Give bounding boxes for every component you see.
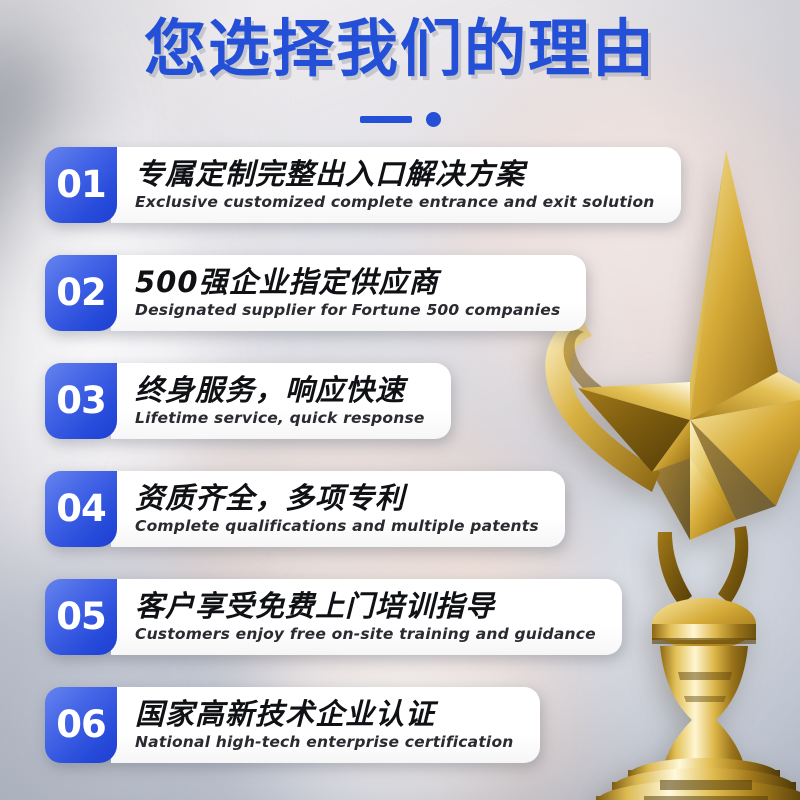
feature-text-en: Designated supplier for Fortune 500 comp… bbox=[135, 301, 560, 320]
feature-number: 05 bbox=[56, 598, 106, 635]
feature-text-en: Lifetime service, quick response bbox=[135, 409, 425, 428]
feature-number-badge: 02 bbox=[45, 255, 117, 331]
feature-row: 05客户享受免费上门培训指导Customers enjoy free on-si… bbox=[45, 579, 622, 655]
feature-number: 01 bbox=[56, 166, 106, 203]
feature-number: 02 bbox=[56, 274, 106, 311]
feature-text-cn: 国家高新技术企业认证 bbox=[135, 698, 514, 730]
feature-card: 国家高新技术企业认证National high-tech enterprise … bbox=[111, 687, 540, 763]
feature-number-badge: 04 bbox=[45, 471, 117, 547]
promotional-poster: 您选择我们的理由 01专属定制完整出入口解决方案Exclusive custom… bbox=[0, 0, 800, 800]
feature-number-badge: 05 bbox=[45, 579, 117, 655]
feature-number-badge: 03 bbox=[45, 363, 117, 439]
feature-text-en: National high-tech enterprise certificat… bbox=[135, 733, 514, 752]
feature-card: 500强企业指定供应商Designated supplier for Fortu… bbox=[111, 255, 586, 331]
feature-text-cn: 资质齐全，多项专利 bbox=[135, 482, 539, 514]
feature-text-cn: 终身服务，响应快速 bbox=[135, 374, 425, 406]
feature-row: 03终身服务，响应快速Lifetime service, quick respo… bbox=[45, 363, 451, 439]
feature-card: 专属定制完整出入口解决方案Exclusive customized comple… bbox=[111, 147, 681, 223]
feature-text-cn: 客户享受免费上门培训指导 bbox=[135, 590, 596, 622]
feature-list: 01专属定制完整出入口解决方案Exclusive customized comp… bbox=[0, 0, 800, 800]
feature-row: 06国家高新技术企业认证National high-tech enterpris… bbox=[45, 687, 540, 763]
feature-text-en: Exclusive customized complete entrance a… bbox=[135, 193, 655, 212]
feature-number-badge: 01 bbox=[45, 147, 117, 223]
feature-text-en: Customers enjoy free on-site training an… bbox=[135, 625, 596, 644]
feature-card: 终身服务，响应快速Lifetime service, quick respons… bbox=[111, 363, 451, 439]
feature-number: 06 bbox=[56, 706, 106, 743]
feature-text-cn: 专属定制完整出入口解决方案 bbox=[135, 158, 655, 190]
feature-number: 04 bbox=[56, 490, 106, 527]
feature-text-cn: 500强企业指定供应商 bbox=[135, 266, 560, 298]
feature-text-en: Complete qualifications and multiple pat… bbox=[135, 517, 539, 536]
feature-row: 01专属定制完整出入口解决方案Exclusive customized comp… bbox=[45, 147, 681, 223]
feature-row: 02500强企业指定供应商Designated supplier for For… bbox=[45, 255, 586, 331]
feature-card: 资质齐全，多项专利Complete qualifications and mul… bbox=[111, 471, 565, 547]
feature-number-badge: 06 bbox=[45, 687, 117, 763]
feature-number: 03 bbox=[56, 382, 106, 419]
feature-card: 客户享受免费上门培训指导Customers enjoy free on-site… bbox=[111, 579, 622, 655]
feature-row: 04资质齐全，多项专利Complete qualifications and m… bbox=[45, 471, 565, 547]
